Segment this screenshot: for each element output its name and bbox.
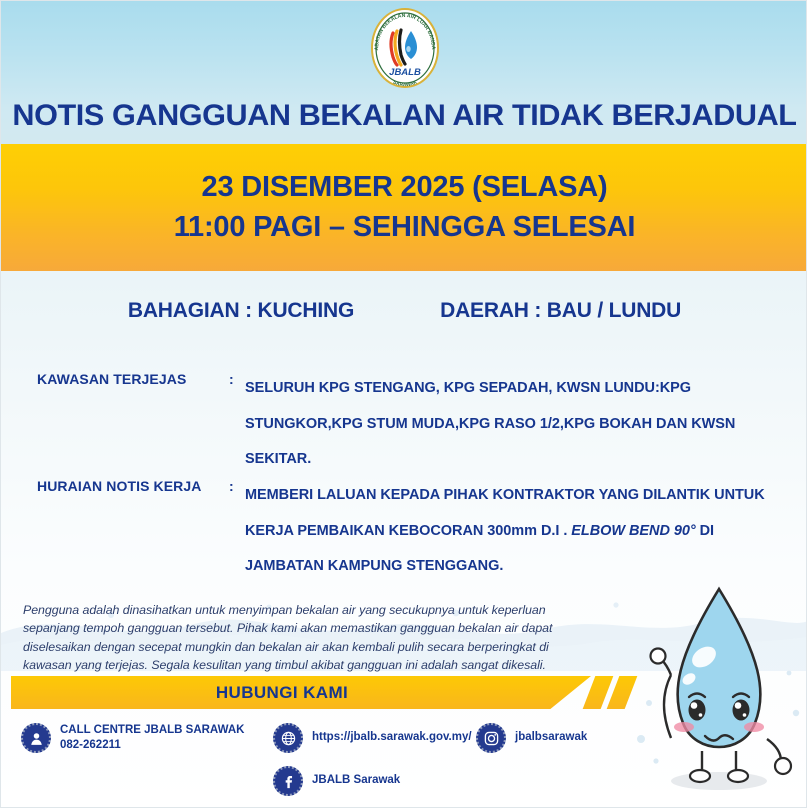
instagram-icon (476, 723, 506, 753)
affected-areas-colon: : (229, 371, 234, 387)
contact-item-call-centre[interactable]: CALL CENTRE JBALB SARAWAK 082-262211 (21, 723, 244, 753)
affected-areas-value: SELURUH KPG STENGANG, KPG SEPADAH, KWSN … (245, 371, 790, 478)
work-description-colon: : (229, 478, 234, 494)
region-row: BAHAGIAN : KUCHING DAERAH : BAU / LUNDU (1, 299, 807, 323)
globe-icon-svg (280, 730, 297, 747)
disruption-date: 23 DISEMBER 2025 (SELASA) (202, 168, 608, 207)
person-icon (21, 723, 51, 753)
contact-bar-label: HUBUNGI KAMI (216, 683, 348, 703)
water-disruption-notice-poster: JABATAN BEKALAN AIR LUAR BANDAR JBALB SA… (0, 0, 807, 808)
affected-areas-label: KAWASAN TERJEJAS (37, 371, 186, 387)
instagram-handle: jbalbsarawak (515, 730, 587, 745)
instagram-icon-svg (483, 730, 500, 747)
contact-item-website[interactable]: https://jbalb.sarawak.gov.my/ (273, 723, 472, 753)
disclaimer-text: Pengguna adalah dinasihatkan untuk menyi… (23, 601, 578, 674)
affected-areas-block: KAWASAN TERJEJAS : SELURUH KPG STENGANG,… (1, 371, 807, 461)
call-centre-number: 082-262211 (60, 738, 244, 753)
contact-bar: HUBUNGI KAMI (11, 676, 591, 709)
globe-icon (273, 723, 303, 753)
water-droplet-mascot (631, 553, 807, 808)
call-centre-title: CALL CENTRE JBALB SARAWAK (60, 724, 244, 736)
website-url: https://jbalb.sarawak.gov.my/ (312, 730, 472, 745)
svg-text:JBALB: JBALB (389, 67, 421, 78)
disruption-time: 11:00 PAGI – SEHINGGA SELESAI (174, 208, 636, 247)
contact-item-instagram[interactable]: jbalbsarawak (476, 723, 587, 753)
work-description-label: HURAIAN NOTIS KERJA (37, 478, 201, 494)
district-label: DAERAH : BAU / LUNDU (440, 299, 681, 323)
page-title: NOTIS GANGGUAN BEKALAN AIR TIDAK BERJADU… (0, 99, 807, 133)
facebook-icon (273, 766, 303, 796)
work-desc-italic: ELBOW BEND 90° (571, 523, 695, 539)
jbalb-logo-icon: JABATAN BEKALAN AIR LUAR BANDAR JBALB SA… (363, 5, 447, 91)
facebook-page-name: JBALB Sarawak (312, 773, 400, 788)
poster-header: JABATAN BEKALAN AIR LUAR BANDAR JBALB SA… (1, 1, 807, 144)
person-icon-svg (28, 730, 45, 747)
jbalb-logo: JABATAN BEKALAN AIR LUAR BANDAR JBALB SA… (363, 5, 447, 91)
water-droplet-mascot-svg (631, 553, 807, 808)
facebook-icon-svg (280, 773, 297, 790)
contact-item-facebook[interactable]: JBALB Sarawak (273, 766, 400, 796)
date-time-banner: 23 DISEMBER 2025 (SELASA) 11:00 PAGI – S… (1, 144, 807, 271)
call-centre-text: CALL CENTRE JBALB SARAWAK 082-262211 (60, 723, 244, 753)
division-label: BAHAGIAN : KUCHING (128, 299, 354, 323)
